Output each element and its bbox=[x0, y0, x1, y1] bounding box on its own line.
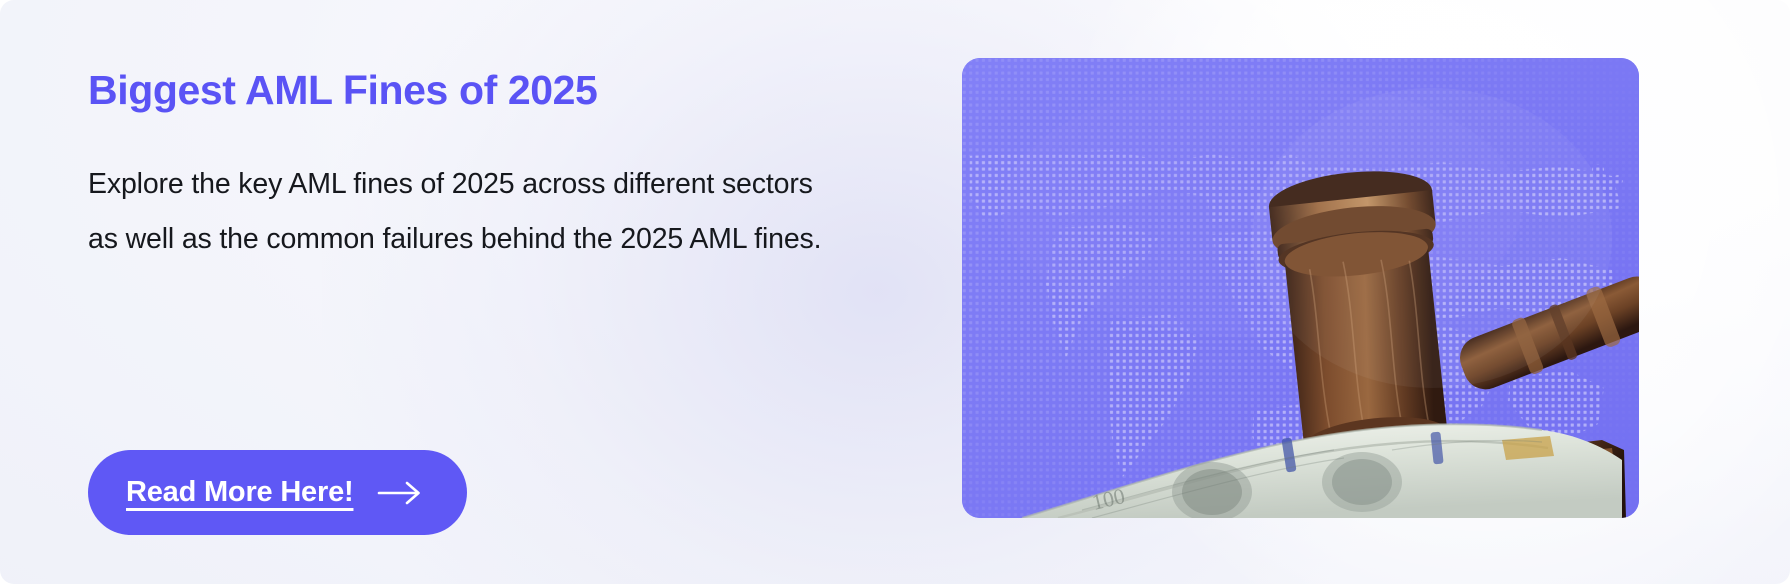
promo-banner-card: Biggest AML Fines of 2025 Explore the ke… bbox=[0, 0, 1790, 584]
banner-description: Explore the key AML fines of 2025 across… bbox=[88, 157, 828, 266]
arrow-right-icon bbox=[377, 480, 423, 506]
read-more-button[interactable]: Read More Here! bbox=[88, 450, 467, 535]
banner-text-column: Biggest AML Fines of 2025 Explore the ke… bbox=[88, 68, 908, 267]
read-more-label: Read More Here! bbox=[126, 476, 353, 509]
banner-image-panel: 100 bbox=[962, 58, 1639, 518]
page-title: Biggest AML Fines of 2025 bbox=[88, 68, 908, 113]
